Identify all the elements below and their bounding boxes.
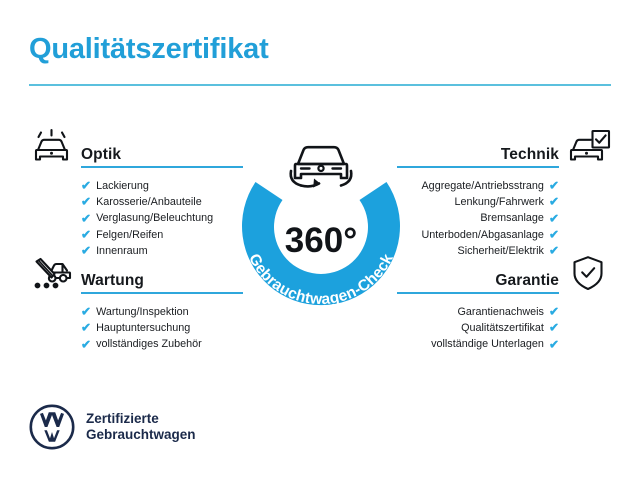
list-item-label: Lackierung [96, 178, 149, 194]
check-icon: ✔ [549, 244, 559, 256]
check-icon: ✔ [549, 338, 559, 350]
check-icon: ✔ [81, 228, 91, 240]
list-item: Qualitätszertifikat✔ [345, 320, 559, 336]
check-icon: ✔ [81, 338, 91, 350]
section-technik: Technik Aggregate/Antriebsstrang✔ Lenkun… [397, 130, 611, 164]
list-item-label: Unterboden/Abgasanlage [421, 227, 543, 243]
badge-360-gebrauchtwagen-check: 360° Gebrauchtwagen-Check [228, 122, 414, 312]
section-garantie: Garantie Garantienachweis✔ Qualitätszert… [397, 256, 611, 290]
section-header-optik: Optik [29, 130, 243, 164]
vw-logo [29, 404, 75, 450]
list-item: ✔Hauptuntersuchung [81, 320, 295, 336]
section-wartung: Wartung ✔Wartung/Inspektion ✔Hauptunters… [29, 256, 243, 290]
check-icon: ✔ [81, 196, 91, 208]
section-title-garantie: Garantie [495, 272, 559, 290]
list-item-label: vollständiges Zubehör [96, 336, 202, 352]
check-icon: ✔ [81, 180, 91, 192]
section-divider-wartung [81, 292, 243, 294]
title-divider [29, 84, 611, 86]
badge-center-text: 360° [285, 221, 357, 260]
check-icon: ✔ [549, 306, 559, 318]
list-item-label: Hauptuntersuchung [96, 320, 190, 336]
check-icon: ✔ [81, 244, 91, 256]
check-icon: ✔ [549, 322, 559, 334]
check-icon: ✔ [81, 212, 91, 224]
section-header-technik: Technik [397, 130, 611, 164]
list-item-label: Karosserie/Anbauteile [96, 194, 202, 210]
section-header-wartung: Wartung [29, 256, 243, 290]
check-icon: ✔ [549, 212, 559, 224]
check-icon: ✔ [81, 322, 91, 334]
list-item-label: Bremsanlage [480, 210, 544, 226]
list-item-label: Verglasung/Beleuchtung [96, 210, 213, 226]
footer-brand: Zertifizierte Gebrauchtwagen [29, 404, 196, 450]
section-title-technik: Technik [501, 146, 559, 164]
check-icon: ✔ [549, 228, 559, 240]
certificate-page: Qualitätszertifikat Optik [0, 0, 640, 480]
list-item: vollständige Unterlagen✔ [345, 336, 559, 352]
shield-check-icon [565, 254, 611, 292]
section-title-optik: Optik [81, 146, 121, 164]
list-item-label: Garantienachweis [458, 304, 544, 320]
section-divider-optik [81, 166, 243, 168]
section-optik: Optik ✔Lackierung ✔Karosserie/Anbauteile… [29, 130, 243, 164]
list-item-label: Felgen/Reifen [96, 227, 163, 243]
list-item-label: Aggregate/Antriebsstrang [421, 178, 543, 194]
list-item-label: Qualitätszertifikat [461, 320, 544, 336]
footer-text: Zertifizierte Gebrauchtwagen [86, 411, 196, 444]
footer-line-1: Zertifizierte [86, 411, 196, 428]
check-icon: ✔ [81, 306, 91, 318]
list-item-label: Lenkung/Fahrwerk [455, 194, 544, 210]
footer-line-2: Gebrauchtwagen [86, 427, 196, 444]
page-title: Qualitätszertifikat [29, 33, 269, 66]
list-item-label: Wartung/Inspektion [96, 304, 189, 320]
list-item: ✔vollständiges Zubehör [81, 336, 295, 352]
section-title-wartung: Wartung [81, 272, 144, 290]
section-divider-technik [397, 166, 559, 168]
list-item-label: vollständige Unterlagen [431, 336, 544, 352]
check-icon: ✔ [549, 196, 559, 208]
car-checkbox-icon [565, 128, 611, 166]
section-header-garantie: Garantie [397, 256, 611, 290]
check-icon: ✔ [549, 180, 559, 192]
section-divider-garantie [397, 292, 559, 294]
car-service-pen-icon [29, 254, 75, 292]
car-shine-icon [29, 128, 75, 166]
